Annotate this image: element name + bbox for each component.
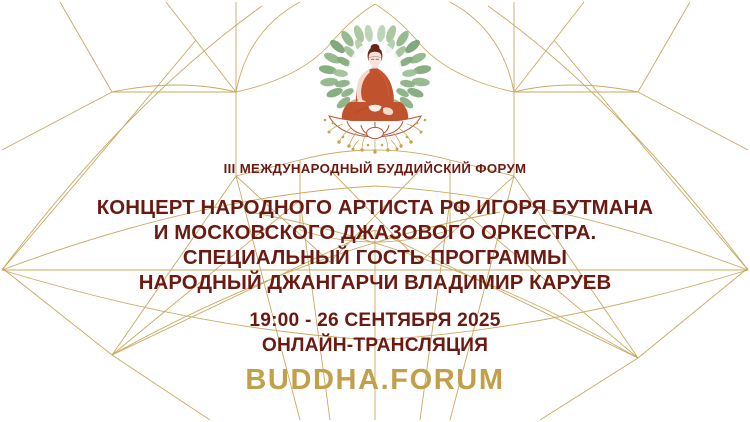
event-headline: КОНЦЕРТ НАРОДНОГО АРТИСТА РФ ИГОРЯ БУТМА… [0, 196, 750, 296]
event-datetime: 19:00 - 26 СЕНТЯБРЯ 2025 [0, 308, 750, 333]
headline-line-1: КОНЦЕРТ НАРОДНОГО АРТИСТА РФ ИГОРЯ БУТМА… [0, 196, 750, 221]
event-schedule: 19:00 - 26 СЕНТЯБРЯ 2025 ОНЛАЙН-ТРАНСЛЯЦ… [0, 308, 750, 358]
forum-eyebrow-title: III МЕЖДУНАРОДНЫЙ БУДДИЙСКИЙ ФОРУМ [0, 161, 750, 176]
headline-line-4: НАРОДНЫЙ ДЖАНГАРЧИ ВЛАДИМИР КАРУЕВ [0, 271, 750, 296]
headline-line-3: СПЕЦИАЛЬНЫЙ ГОСТЬ ПРОГРАММЫ [0, 246, 750, 271]
website-url[interactable]: BUDDHA.FORUM [0, 363, 750, 397]
broadcast-label: ОНЛАЙН-ТРАНСЛЯЦИЯ [0, 333, 750, 358]
poster-text-content: III МЕЖДУНАРОДНЫЙ БУДДИЙСКИЙ ФОРУМ КОНЦЕ… [0, 0, 750, 422]
headline-line-2: И МОСКОВСКОГО ДЖАЗОВОГО ОРКЕСТРА. [0, 221, 750, 246]
poster-canvas: III МЕЖДУНАРОДНЫЙ БУДДИЙСКИЙ ФОРУМ КОНЦЕ… [0, 0, 750, 422]
